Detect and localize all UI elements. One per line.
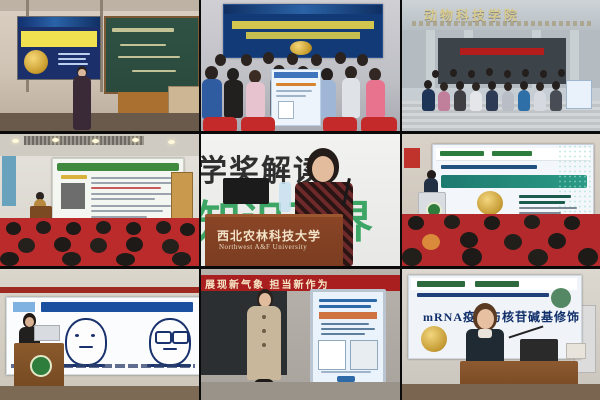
photo-2-image [201,0,400,131]
photo-6-image [402,134,600,266]
name-card [566,343,586,359]
laureate-portrait-1 [65,318,107,366]
crowd-group [424,62,582,110]
floor [201,382,400,400]
slide-text-2 [58,58,86,60]
water-bottle [279,182,291,212]
photo-cell-8[interactable]: 展现新气象 担当新作为 [201,269,400,400]
speaker-figure [72,66,92,130]
floor [402,384,600,400]
poster-title [276,83,316,86]
poster-line-b [319,305,371,308]
slide-subtitle-band [246,32,360,39]
slide-header-band [57,163,179,171]
photo-3-image: 动物科技学院 [402,0,600,131]
photo-cell-5[interactable]: 学奖解读 知识无界 西北农林科技大学 Northwest A&F Univers… [201,134,400,266]
wall-decoration [404,148,420,168]
slide-subheader [417,293,549,297]
slide-tag [61,175,87,179]
projection-screen [223,4,383,58]
laureate-portrait-2 [149,318,191,366]
podium-plate-cn: 西北农林科技大学 [217,227,321,244]
chalk-title [112,28,174,32]
slide-subheader [441,165,537,169]
photo-7-image [0,269,199,400]
poster-title [319,312,377,319]
slide-header [411,278,577,290]
floor [0,386,199,400]
slide-portrait [61,183,85,209]
poster-portrait-sketch [318,340,346,370]
photo-cell-4[interactable]: lecture hall with seated audience facing… [0,134,199,266]
slide-header-band [18,17,100,27]
standing-poster [566,80,592,109]
photo-cell-9[interactable]: mRNA疫苗与核苷碱基修饰 female speaker at podium w… [402,269,600,400]
photo-cell-7[interactable]: speaker at podium with slide showing two… [0,269,199,400]
medal-icon [477,191,503,215]
slide-text-1 [58,53,90,55]
window-curtain [2,156,16,206]
slide-banner [41,302,193,312]
wall-red-stripe [0,287,199,293]
slide-title-band [21,31,97,47]
photo-cell-3[interactable]: 动物科技学院 [402,0,600,131]
slide-header-band [224,5,382,14]
chalk-line-3 [118,56,180,58]
projection-screen [52,158,184,226]
slide-text-3 [58,63,88,65]
building-sign-en [412,21,592,26]
side-door [171,172,193,222]
poster-header [274,72,318,78]
photo-collage: classroom lecture with projector screen … [0,0,600,400]
poster-line-a [319,299,377,302]
emblem-icon [30,355,52,377]
audience-seating [402,214,600,266]
chalk-line-4 [132,70,176,72]
front-chairs [201,117,400,131]
laptop [34,325,60,341]
laptop [223,178,269,204]
poster-board [310,289,386,389]
photo-5-image: 学奖解读 知识无界 西北农林科技大学 Northwest A&F Univers… [201,134,400,266]
photo-8-image: 展现新气象 担当新作为 [201,269,400,400]
photo-4-image [0,134,199,266]
speaker-figure [464,303,506,367]
photo-9-image: mRNA疫苗与核苷碱基修饰 [402,269,600,400]
poster-portrait-photo [350,340,378,370]
medal-icon [421,326,447,352]
photo-cell-1[interactable]: classroom lecture with projector screen … [0,0,199,131]
photo-cell-2[interactable]: large group photo in auditorium holding … [201,0,400,131]
podium-plate-en: Northwest A&F University [219,243,307,251]
poster-line-2 [276,95,306,97]
ceiling-vent [24,136,144,145]
blackboard [104,16,199,94]
slide-logo [13,302,35,312]
photo-cell-6[interactable]: auditorium audience viewing hepatitis C … [402,134,600,266]
slide-title-band [232,21,374,29]
projection-screen [432,144,594,220]
audience-seating [0,218,199,266]
podium: 西北农林科技大学 Northwest A&F University [205,214,343,266]
poster-line-1 [276,90,312,92]
event-banner [460,48,544,55]
chalk-line-2 [120,44,166,46]
emblem-icon [551,288,571,308]
floor [0,113,199,131]
medal-icon [24,50,48,74]
photo-1-image [0,0,199,131]
